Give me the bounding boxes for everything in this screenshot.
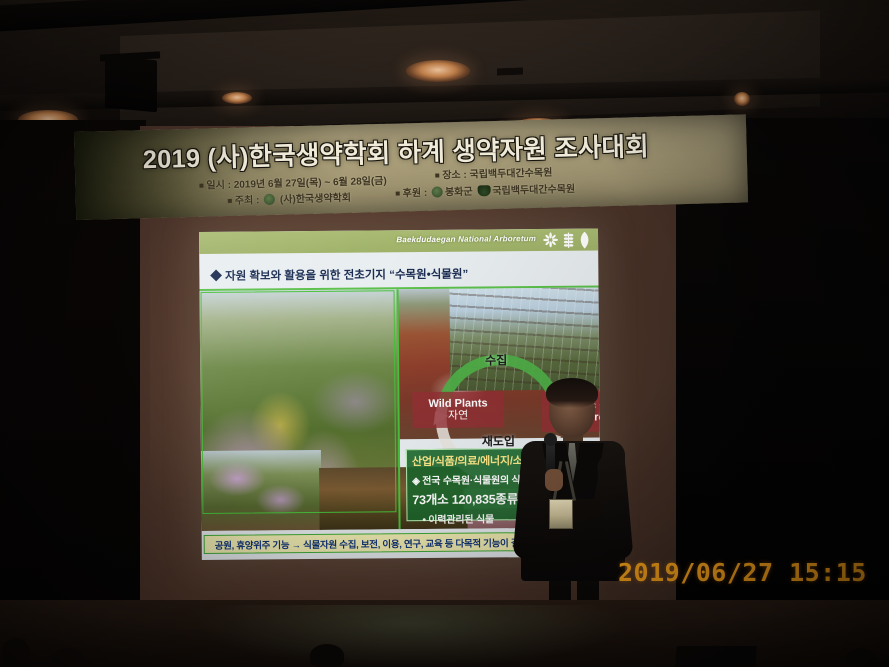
ceiling-panel xyxy=(120,10,820,132)
banner-sponsor-1: 봉화군 xyxy=(445,187,473,199)
ceiling xyxy=(0,0,889,132)
arboretum-logo-icon xyxy=(477,185,490,196)
bullet-square-icon xyxy=(435,174,439,178)
slide-header-bar: Baekdudaegan National Arboretum xyxy=(199,229,598,254)
banner-host-label: 주최 xyxy=(235,195,254,206)
banner-venue-label: 장소 xyxy=(442,170,461,181)
presenter-name-badge xyxy=(549,499,573,529)
box-wild-plants-en: Wild Plants xyxy=(428,397,487,410)
society-logo-icon xyxy=(264,194,275,205)
audience-head xyxy=(52,648,84,667)
microphone-head-icon xyxy=(544,433,557,446)
flower-icon xyxy=(543,232,558,248)
bullet-square-icon xyxy=(199,184,203,188)
floor-light-reflection xyxy=(200,605,620,667)
leaf-icon xyxy=(578,232,591,249)
audience-head xyxy=(310,644,344,667)
presenter-hand xyxy=(545,469,563,491)
bullet-square-icon xyxy=(228,199,232,203)
ceiling-vent xyxy=(497,68,523,76)
audience-chair xyxy=(675,646,756,667)
banner-host-value: (사)한국생약학회 xyxy=(280,193,351,206)
bonghwa-logo-icon xyxy=(432,186,443,197)
banner-date-label: 일시 xyxy=(206,180,225,191)
banner-sponsor-label: 후원 xyxy=(403,188,422,199)
box-wild-plants: Wild Plants 자연 xyxy=(412,391,503,428)
green-box-line3-value: 73개소 120,835종류 xyxy=(412,492,518,507)
label-reintroduce: 재도입 xyxy=(482,432,515,449)
camera-timestamp: 2019/06/27 15:15 xyxy=(618,558,867,587)
downlight-icon xyxy=(734,92,750,106)
audience-head xyxy=(846,648,876,667)
slide-bottom-bar-text: 공원, 휴양위주 기능 → 식물자원 수집, 보전, 이용, 연구, 교육 등 … xyxy=(205,534,556,551)
slide-title: ◆ 자원 확보와 활용을 위한 전초기지 “수목원•식물원” xyxy=(210,265,590,284)
banner-venue-line: 장소 : 국립백두대간수목원 xyxy=(435,163,552,181)
photograph-auditorium-presentation: 2019 (사)한국생약학회 하계 생약자원 조사대회 일시 : 2019년 6… xyxy=(0,0,889,667)
slide-header-label: Baekdudaegan National Arboretum xyxy=(396,234,536,244)
projector-icon xyxy=(105,56,157,113)
downlight-icon xyxy=(222,92,252,104)
bullet-square-icon xyxy=(396,192,400,196)
audience-head xyxy=(2,638,30,667)
presenter-hair xyxy=(546,378,598,408)
event-banner: 2019 (사)한국생약학회 하계 생약자원 조사대회 일시 : 2019년 6… xyxy=(74,114,748,220)
grain-icon xyxy=(563,232,574,249)
collage-left-frame xyxy=(201,290,397,514)
banner-venue-value: 국립백두대간수목원 xyxy=(469,167,552,180)
banner-host-line: 주최 : (사)한국생약학회 xyxy=(228,189,351,207)
label-collect: 수집 xyxy=(485,351,507,368)
box-wild-plants-ko: 자연 xyxy=(448,410,468,422)
downlight-icon xyxy=(406,60,470,82)
banner-sponsor-2: 국립백두대간수목원 xyxy=(492,184,575,197)
